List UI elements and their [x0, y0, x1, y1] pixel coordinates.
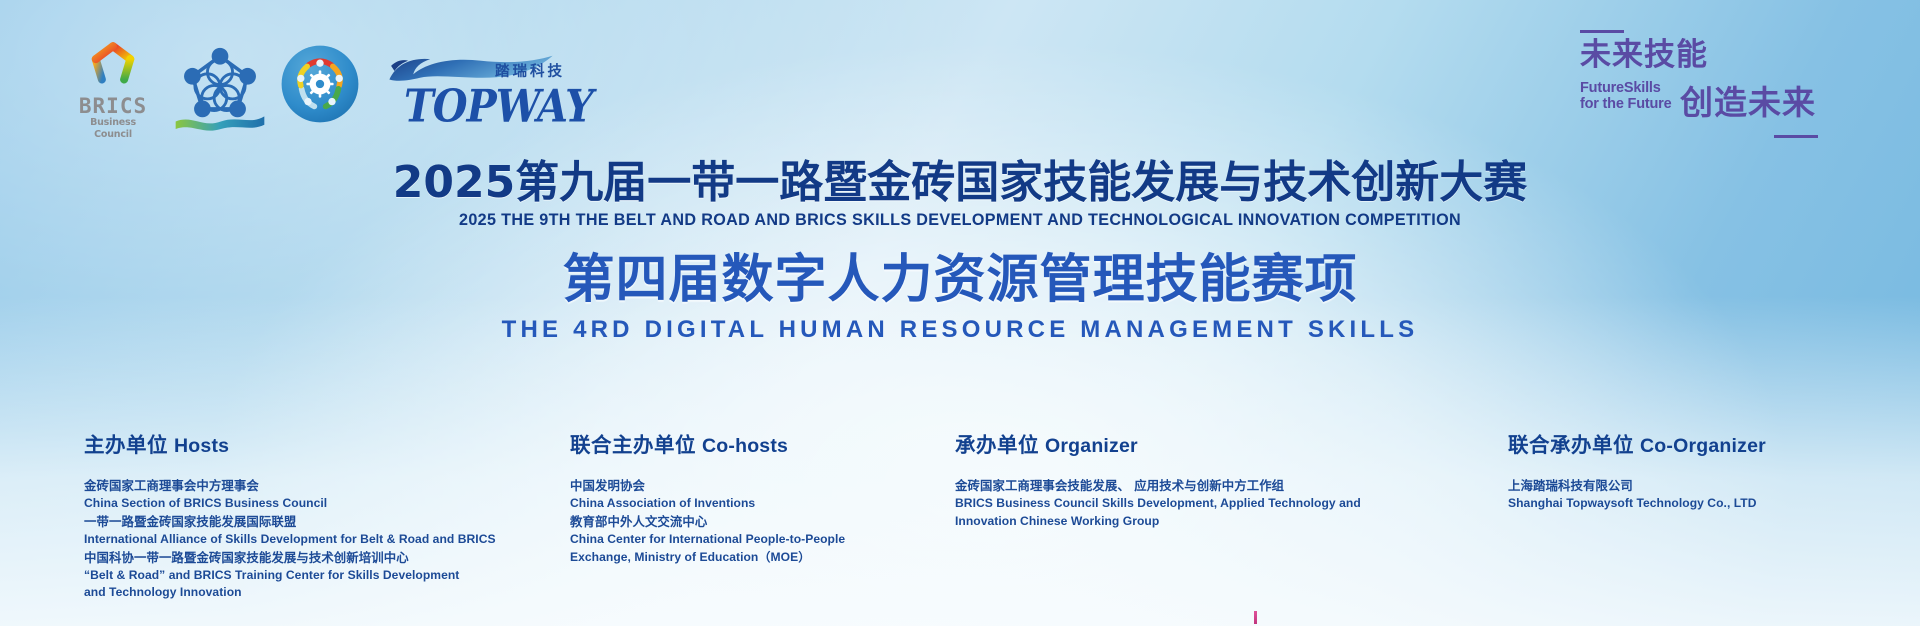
organizer-column-organizer: 承办单位Organizer 金砖国家工商理事会技能发展、 应用技术与创新中方工作… [955, 428, 1405, 530]
topway-english-wordmark: TOPWAY [404, 80, 593, 133]
event-subtitle-block: 第四届数字人力资源管理技能赛项 THE 4RD DIGITAL HUMAN RE… [0, 252, 1920, 344]
column-heading-en: Co-Organizer [1640, 435, 1766, 457]
brics-business-council-logo: BRICS Business Council [72, 40, 154, 132]
column-heading-en: Hosts [174, 435, 229, 457]
organizer-columns: 主办单位Hosts 金砖国家工商理事会中方理事会 China Section o… [0, 428, 1920, 618]
column-line: 金砖国家工商理事会技能发展、 应用技术与创新中方工作组 [955, 477, 1405, 495]
topway-chinese-wordmark: 踏瑞科技 [495, 60, 565, 81]
column-line: and Technology Innovation [84, 584, 554, 602]
column-heading: 联合承办单位Co-Organizer [1508, 428, 1868, 458]
skills-alliance-molecule-logo [174, 44, 266, 132]
column-heading: 承办单位Organizer [955, 428, 1405, 458]
logo-strip: BRICS Business Council [72, 40, 567, 132]
column-line: Exchange, Ministry of Education（MOE） [570, 549, 910, 567]
column-line: 上海踏瑞科技有限公司 [1508, 477, 1868, 495]
topway-logo: 踏瑞科技 TOPWAY [382, 54, 567, 132]
column-line: Shanghai Topwaysoft Technology Co., LTD [1508, 495, 1868, 513]
slogan-line2: 创造未来 [1680, 86, 1816, 119]
column-line: BRICS Business Council Skills Developmen… [955, 495, 1405, 513]
brics-wordmark-line2: Business Council [72, 117, 154, 141]
column-heading-cn: 承办单位 [955, 433, 1039, 457]
column-line: 中国科协一带一路暨金砖国家技能发展与技术创新培训中心 [84, 549, 554, 567]
column-line: 金砖国家工商理事会中方理事会 [84, 477, 554, 495]
event-subtitle-english: THE 4RD DIGITAL HUMAN RESOURCE MANAGEMEN… [0, 316, 1920, 344]
column-heading: 主办单位Hosts [84, 428, 554, 458]
column-body: 中国发明协会 China Association of Inventions 教… [570, 477, 910, 566]
column-line: International Alliance of Skills Develop… [84, 531, 554, 549]
column-line: Innovation Chinese Working Group [955, 513, 1405, 531]
page-title: 2025第九届一带一路暨金砖国家技能发展与技术创新大赛 [0, 160, 1920, 207]
column-line: China Association of Inventions [570, 495, 910, 513]
organizer-column-coorganizer: 联合承办单位Co-Organizer 上海踏瑞科技有限公司 Shanghai T… [1508, 428, 1868, 513]
organizer-column-cohosts: 联合主办单位Co-hosts 中国发明协会 China Association … [570, 428, 910, 566]
column-line: China Center for International People-to… [570, 531, 910, 549]
column-body: 金砖国家工商理事会中方理事会 China Section of BRICS Bu… [84, 477, 554, 602]
column-heading-en: Organizer [1045, 435, 1138, 457]
slogan-english: FutureSkills for the Future [1580, 80, 1671, 112]
slogan-dash-bottom-icon [1774, 135, 1818, 138]
brics-star-icon [82, 40, 144, 98]
future-skills-slogan: 未来技能 FutureSkills for the Future 创造未来 [1562, 28, 1862, 136]
column-heading-cn: 联合主办单位 [570, 433, 696, 457]
interlocking-circles-wave-icon [174, 44, 266, 132]
main-title-block: 2025第九届一带一路暨金砖国家技能发展与技术创新大赛 2025 THE 9TH… [0, 160, 1920, 230]
column-body: 上海踏瑞科技有限公司 Shanghai Topwaysoft Technolog… [1508, 477, 1868, 513]
page-title-english: 2025 THE 9TH THE BELT AND ROAD AND BRICS… [14, 211, 1905, 230]
circle-gear-star-badge-icon [280, 44, 360, 124]
slogan-english-line2: for the Future [1580, 96, 1671, 112]
column-line: “Belt & Road” and BRICS Training Center … [84, 567, 554, 585]
event-subtitle: 第四届数字人力资源管理技能赛项 [0, 252, 1920, 308]
column-heading-cn: 联合承办单位 [1508, 433, 1634, 457]
organizer-column-hosts: 主办单位Hosts 金砖国家工商理事会中方理事会 China Section o… [84, 428, 554, 602]
brics-wordmark: BRICS Business Council [72, 96, 154, 141]
column-line: 中国发明协会 [570, 477, 910, 495]
column-heading-cn: 主办单位 [84, 433, 168, 457]
column-line: 教育部中外人文交流中心 [570, 513, 910, 531]
pink-marker-icon [1254, 611, 1257, 624]
poster-canvas: BRICS Business Council [0, 0, 1920, 626]
slogan-english-line1: FutureSkills [1580, 80, 1671, 96]
slogan-dash-top-icon [1580, 30, 1624, 33]
training-center-gear-badge-logo [280, 44, 360, 132]
slogan-line1: 未来技能 [1580, 40, 1708, 71]
column-body: 金砖国家工商理事会技能发展、 应用技术与创新中方工作组 BRICS Busine… [955, 477, 1405, 530]
column-line: China Section of BRICS Business Council [84, 495, 554, 513]
column-line: 一带一路暨金砖国家技能发展国际联盟 [84, 513, 554, 531]
column-heading-en: Co-hosts [702, 435, 788, 457]
brics-wordmark-line1: BRICS [72, 96, 154, 117]
column-heading: 联合主办单位Co-hosts [570, 428, 910, 458]
